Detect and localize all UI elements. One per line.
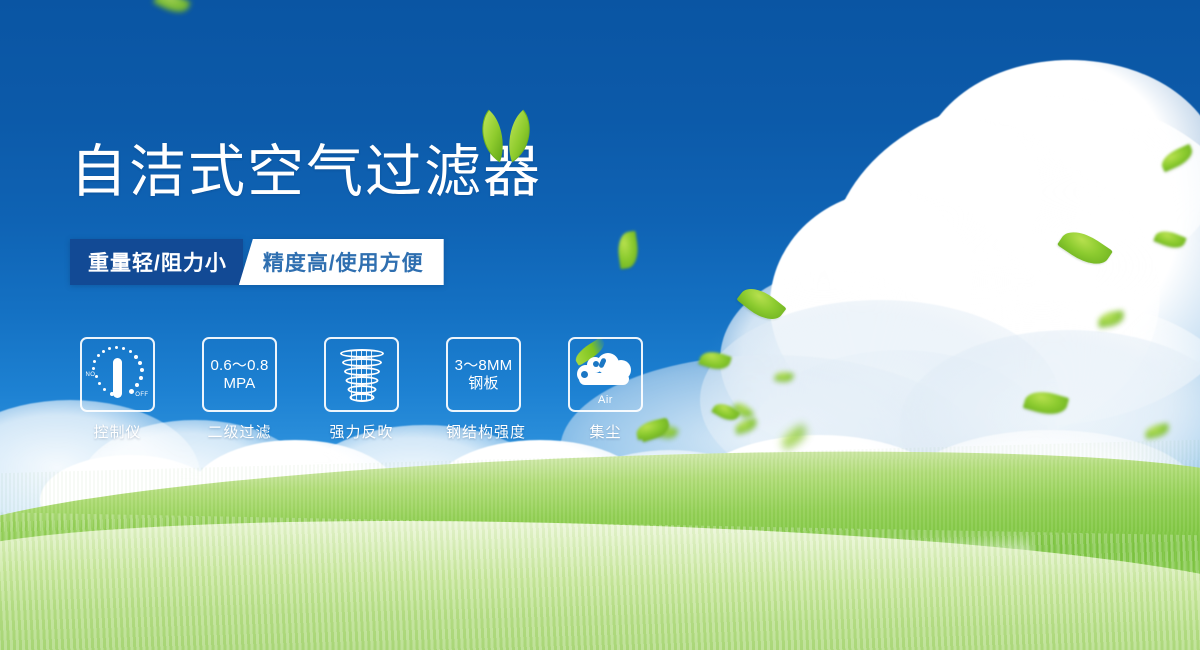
feature-item-strong-blowback[interactable]: 强力反吹 (324, 337, 399, 442)
icon-text-line-1: 3〜8MM (455, 357, 513, 375)
gauge-icon: NO OFF (85, 342, 151, 408)
feature-icon-box (324, 337, 399, 412)
coil-blowback-icon (337, 348, 387, 402)
feature-list: NO OFF (80, 337, 643, 442)
subtitle-bar: 重量轻/阻力小 精度高/使用方便 (70, 239, 444, 285)
feature-icon-box: NO OFF (80, 337, 155, 412)
feature-item-control-gauge[interactable]: NO OFF (80, 337, 155, 442)
feature-icon-box: 3〜8MM 钢板 (446, 337, 521, 412)
gauge-on-label: NO (86, 372, 96, 378)
air-label: Air (575, 394, 637, 406)
icon-text-line-2: 钢板 (455, 375, 513, 393)
gauge-off-label: OFF (135, 392, 148, 398)
subtitle-right-segment: 精度高/使用方便 (239, 239, 444, 285)
feature-item-two-stage-filter[interactable]: 0.6〜0.8 MPA 二级过滤 (202, 337, 277, 442)
air-cloud-icon: Air (575, 347, 637, 403)
grass-field (0, 430, 1200, 650)
feature-icon-box: Air (568, 337, 643, 412)
sprout-leaves-icon (470, 108, 542, 164)
icon-text-line-1: 0.6〜0.8 (210, 357, 268, 375)
feature-item-dust-collection[interactable]: Air 集尘 (568, 337, 643, 442)
gauge-needle (113, 358, 122, 398)
feature-item-steel-strength[interactable]: 3〜8MM 钢板 钢结构强度 (446, 337, 521, 442)
feature-icon-box: 0.6〜0.8 MPA (202, 337, 277, 412)
icon-text-line-2: MPA (210, 375, 268, 393)
grass-near-field (0, 511, 1200, 650)
product-hero-banner: 自洁式空气过滤器 重量轻/阻力小 精度高/使用方便 NO OFF (0, 0, 1200, 650)
subtitle-left-segment: 重量轻/阻力小 (70, 239, 243, 285)
pressure-text-icon: 0.6〜0.8 MPA (210, 357, 268, 392)
steel-plate-text-icon: 3〜8MM 钢板 (455, 357, 513, 392)
